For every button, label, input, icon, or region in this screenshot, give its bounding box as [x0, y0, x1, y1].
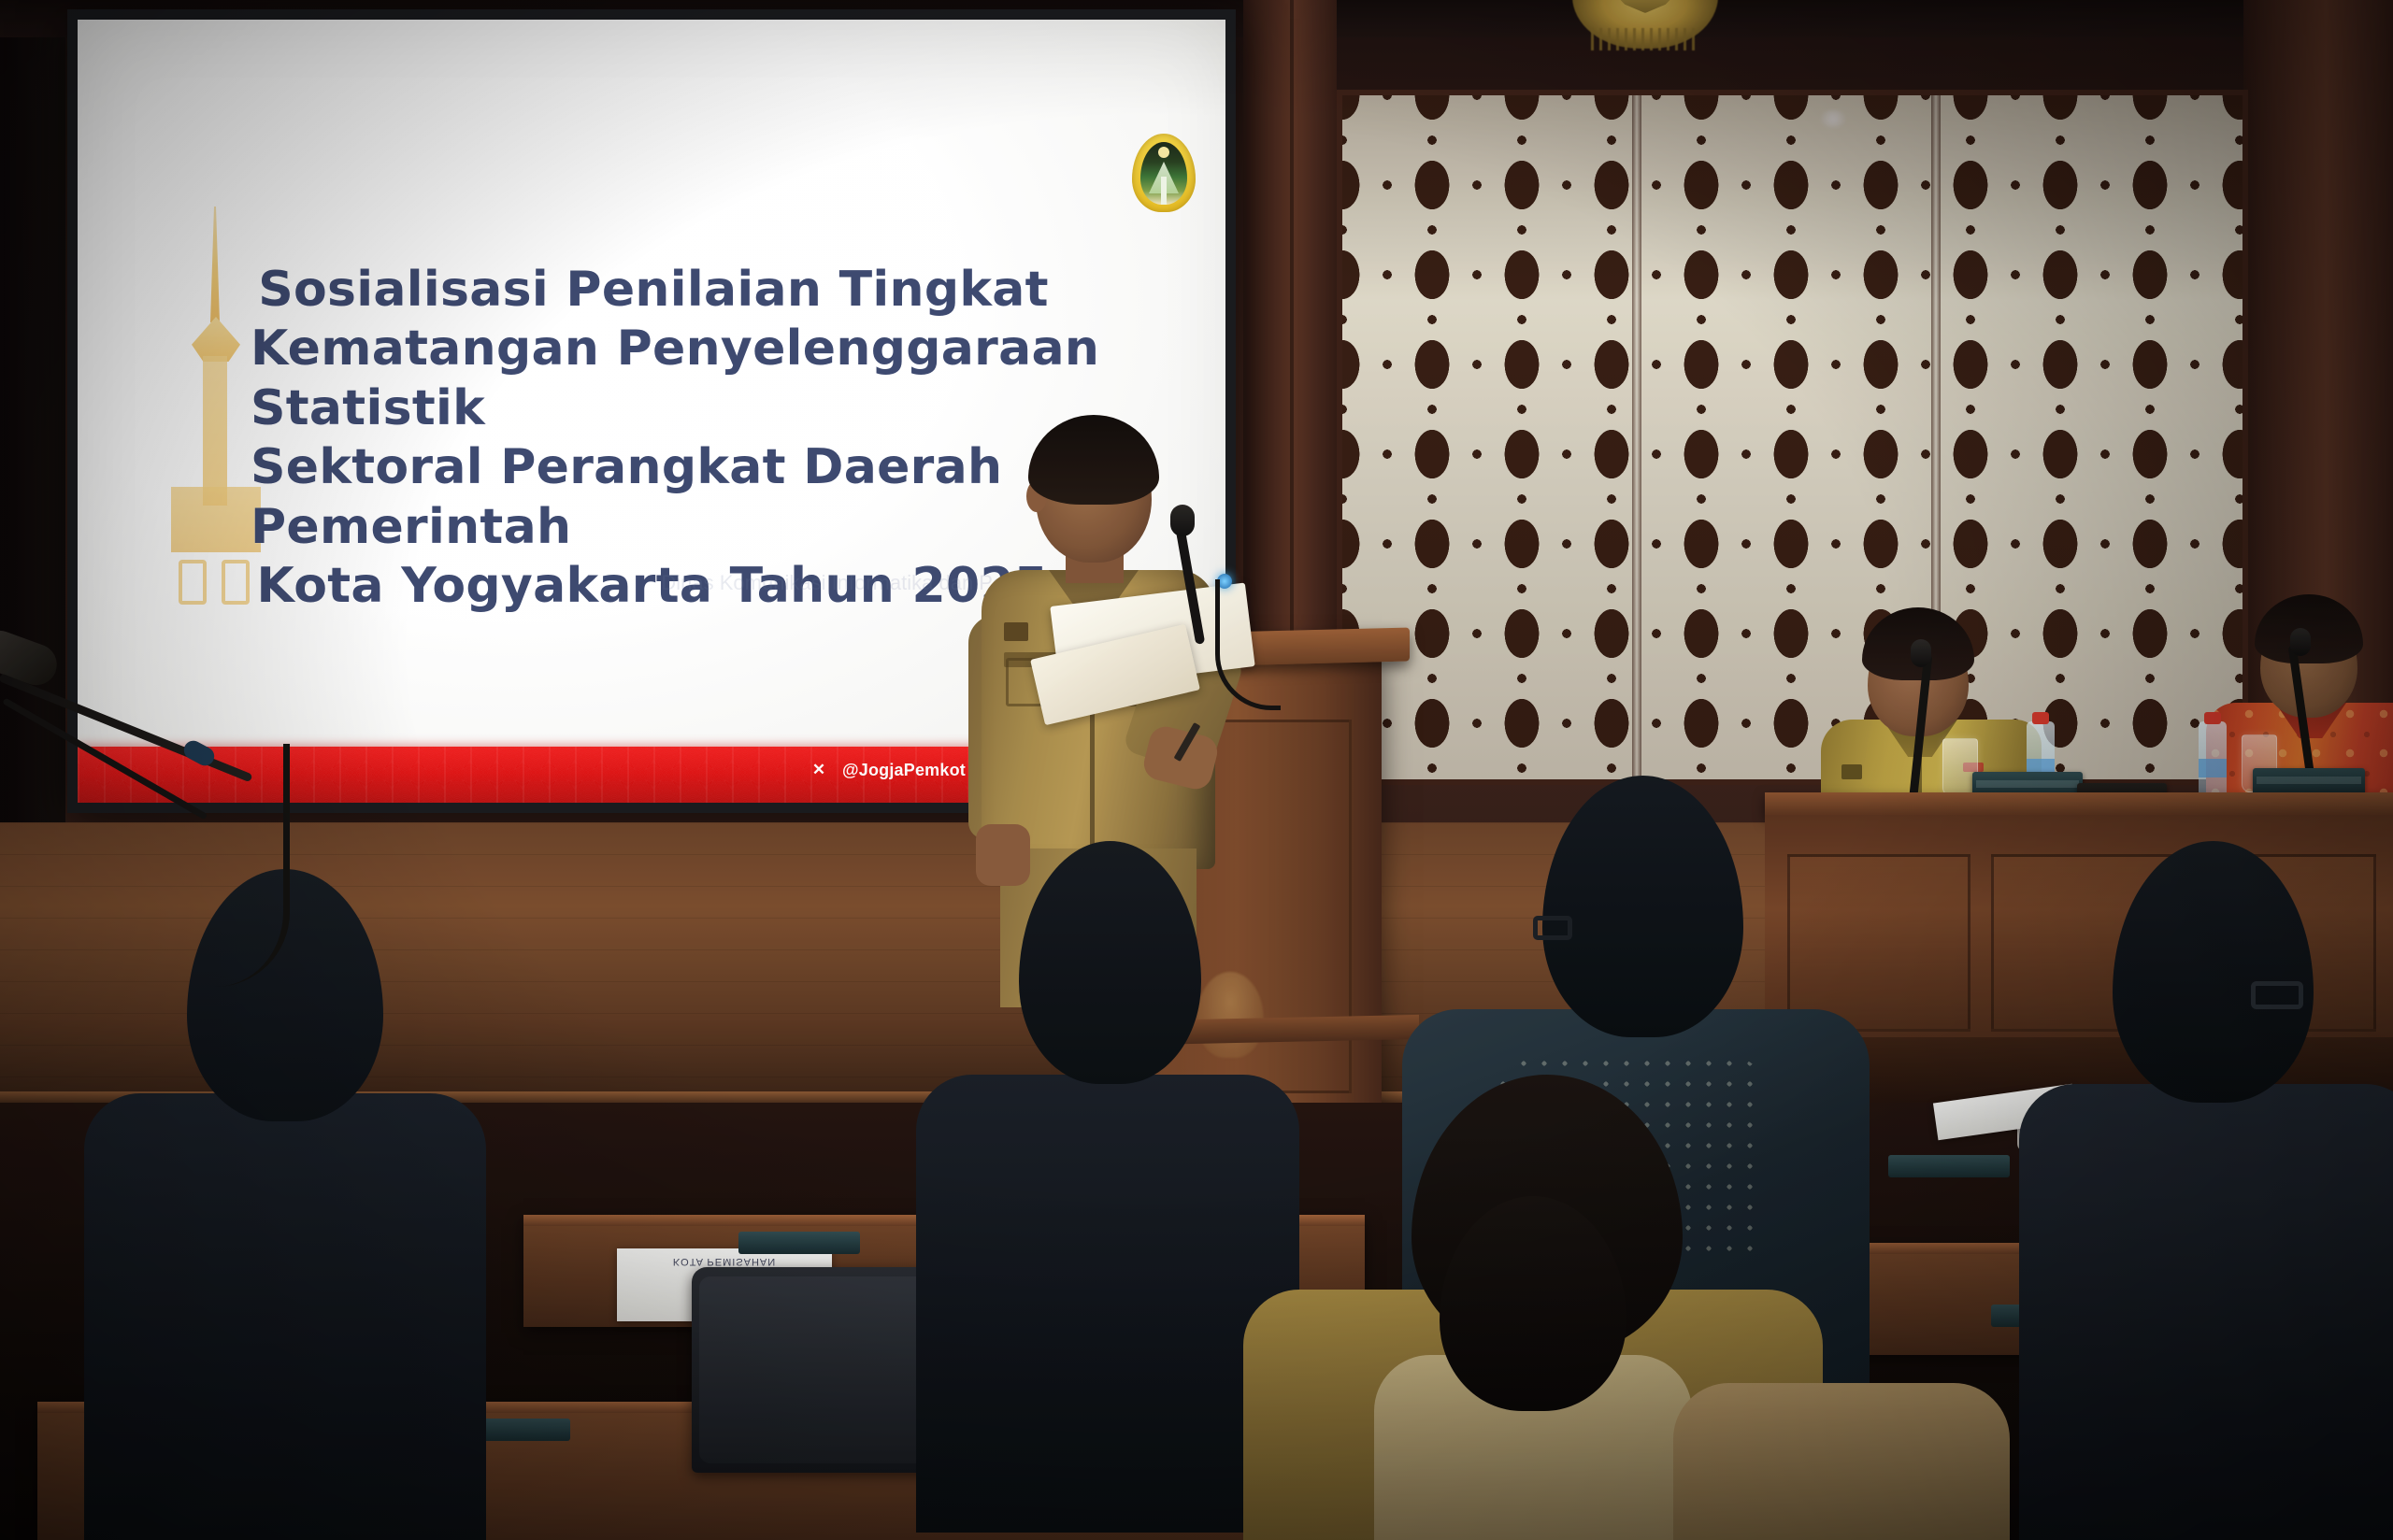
head-table-top	[1765, 792, 2393, 817]
chair-name-plate-4	[738, 1232, 860, 1254]
eyeglasses-icon	[1533, 916, 1572, 940]
audience-person-6	[1374, 1196, 1692, 1540]
boom-microphone	[0, 654, 271, 1047]
audience-person-7	[1673, 1215, 2010, 1540]
carved-lattice-screen	[1337, 90, 2248, 785]
x-twitter-icon: ✕	[807, 758, 831, 782]
audience-person-2	[935, 841, 1281, 1533]
lectern-microphone-head	[1170, 505, 1195, 536]
reflected-document-text: KOTA PEMISAHAN	[623, 1256, 826, 1267]
slide-title-line-1: Sosialisasi Penilaian Tingkat	[251, 261, 1176, 320]
gold-ceiling-ornament-icon	[1552, 0, 1739, 60]
conference-hall-photo: Sosialisasi Penilaian Tingkat Kematangan…	[0, 0, 2393, 1540]
yogyakarta-city-seal	[1132, 134, 1196, 212]
head-table-microphone-right-head	[2290, 628, 2311, 656]
audience-person-5	[2019, 841, 2393, 1540]
slide-title-line-2: Kematangan Penyelenggaraan Statistik	[251, 320, 1176, 438]
head-table-microphone-left-head	[1911, 639, 1931, 667]
water-bottle-right	[2199, 721, 2227, 800]
chair-name-plate-3	[1888, 1155, 2010, 1177]
eyeglasses-icon-2	[2251, 981, 2303, 1009]
social-handle: @JogjaPemkot	[842, 761, 966, 780]
